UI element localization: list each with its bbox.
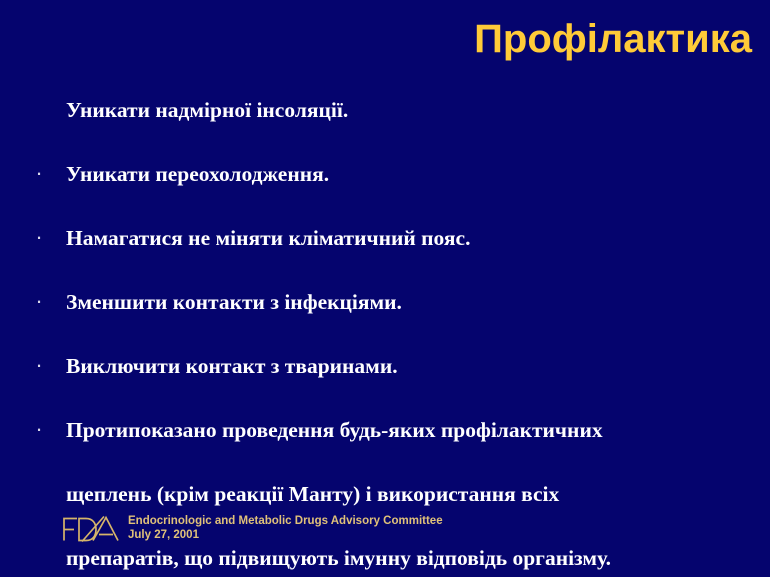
list-item: · Зменшити контакти з інфекціями.	[0, 270, 770, 334]
list-item-label: Зменшити контакти з інфекціями.	[0, 270, 770, 334]
list-item-label: Намагатися не міняти кліматичний пояс.	[0, 206, 770, 270]
list-item-label: Уникати переохолодження.	[0, 142, 770, 206]
bullet-icon: ·	[34, 270, 44, 334]
list-item: · Намагатися не міняти кліматичний пояс.	[0, 206, 770, 270]
list-item: · Протипоказано проведення будь-яких про…	[0, 398, 770, 462]
bullet-icon: ·	[34, 142, 44, 206]
list-item-label: Уникати надмірної інсоляції.	[0, 78, 770, 142]
bullet-icon: ·	[34, 206, 44, 270]
bullet-list: · Уникати надмірної інсоляції. · Уникати…	[0, 78, 770, 577]
bullet-icon: ·	[34, 398, 44, 462]
list-item: · Уникати переохолодження.	[0, 142, 770, 206]
bullet-icon: ·	[34, 334, 44, 398]
list-item-label: Виключити контакт з тваринами.	[0, 334, 770, 398]
list-item: · Уникати надмірної інсоляції.	[0, 78, 770, 142]
list-item: · Виключити контакт з тваринами.	[0, 334, 770, 398]
fda-logo-icon	[62, 514, 120, 544]
presentation-slide: Профілактика · Уникати надмірної інсоляц…	[0, 0, 770, 577]
footer-text: Endocrinologic and Metabolic Drugs Advis…	[128, 514, 443, 542]
footer-committee-label: Endocrinologic and Metabolic Drugs Advis…	[128, 514, 443, 528]
footer-watermark: Endocrinologic and Metabolic Drugs Advis…	[62, 514, 443, 544]
list-item-label: Протипоказано проведення будь-яких профі…	[0, 398, 770, 462]
footer-date-label: July 27, 2001	[128, 528, 443, 542]
page-title: Профілактика	[0, 16, 752, 62]
